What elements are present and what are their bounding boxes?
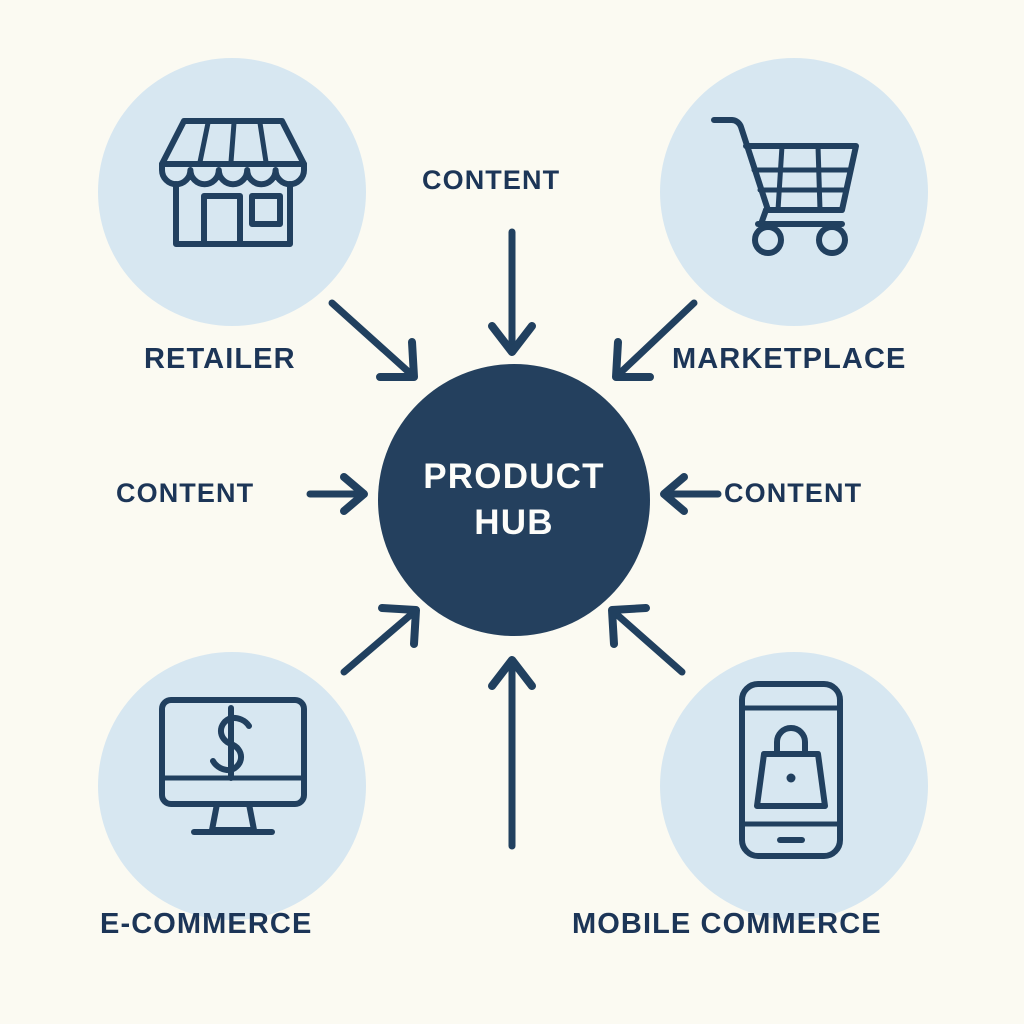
flow-label-content-top: CONTENT [422, 165, 560, 196]
node-label-mobile-commerce: MOBILE COMMERCE [572, 908, 882, 941]
storefront-icon [148, 104, 318, 264]
mobile-shopping-bag-icon [716, 678, 866, 863]
hub-title-line-2: HUB [474, 500, 553, 546]
flow-label-content-left: CONTENT [116, 478, 254, 509]
arrow-content-right [664, 477, 718, 511]
node-label-marketplace: MARKETPLACE [672, 343, 906, 376]
diagram-canvas: PRODUCT HUB RETAILER MARKETPLACE E-COMME… [0, 0, 1024, 1024]
product-hub-node[interactable]: PRODUCT HUB [378, 364, 650, 636]
arrow-retailer-to-hub [332, 303, 414, 377]
hub-title-line-1: PRODUCT [423, 454, 604, 500]
arrow-mobile-to-hub [612, 608, 682, 672]
shopping-cart-icon [706, 104, 876, 264]
arrow-content-left [310, 477, 364, 511]
arrow-ecommerce-to-hub [344, 608, 416, 672]
node-label-retailer: RETAILER [144, 343, 296, 376]
monitor-dollar-icon [148, 690, 318, 850]
node-label-ecommerce: E-COMMERCE [100, 908, 312, 941]
arrow-bottom-center [492, 660, 532, 846]
flow-label-content-right: CONTENT [724, 478, 862, 509]
arrow-content-top [492, 232, 532, 352]
